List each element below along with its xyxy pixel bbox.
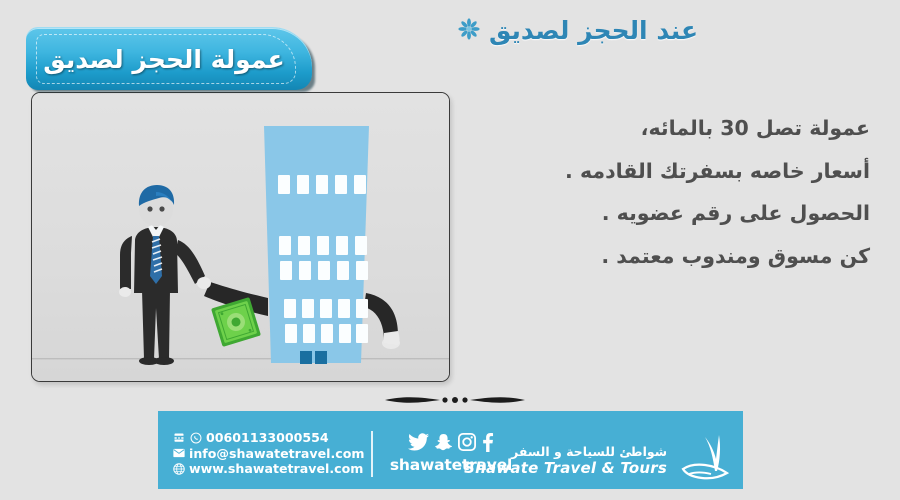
contact-email-row[interactable]: info@shawatetravel.com <box>172 446 364 462</box>
telephone-icon <box>172 431 185 444</box>
benefits-list: عمولة تصل 30 بالمائه، أسعار خاصه بسفرتك … <box>450 118 870 288</box>
businessman-figure <box>119 185 211 365</box>
phone-number: 00601133000554 <box>206 430 329 446</box>
page-title: عند الحجز لصديق <box>458 16 878 45</box>
list-item: أسعار خاصه بسفرتك القادمه . <box>450 161 870 182</box>
whatsapp-icon <box>189 431 202 444</box>
divider-ornament <box>385 392 525 408</box>
contact-phone-row[interactable]: 00601133000554 <box>172 430 364 446</box>
illustration-graphic <box>32 93 449 381</box>
logo-text-block: شواطئ للسياحة و السفر Shawate Travel & T… <box>464 445 667 477</box>
list-item: كن مسوق ومندوب معتمد . <box>450 246 870 267</box>
ribbon-title: عمولة الحجز لصديق <box>26 28 312 90</box>
list-item: عمولة تصل 30 بالمائه، <box>450 118 870 139</box>
logo-arabic-name: شواطئ للسياحة و السفر <box>464 445 667 460</box>
illustration-card <box>31 92 450 382</box>
contact-block: 00601133000554 info@shawatetravel.com ww… <box>172 430 364 477</box>
footer-divider <box>371 431 373 477</box>
email-address: info@shawatetravel.com <box>189 446 364 462</box>
snapchat-icon[interactable] <box>435 433 452 456</box>
website-url: www.shawatetravel.com <box>189 461 363 477</box>
flower-asterisk-icon <box>458 18 480 44</box>
contact-website-row[interactable]: www.shawatetravel.com <box>172 461 364 477</box>
ribbon-body: عمولة الحجز لصديق <box>26 27 312 90</box>
company-logo: شواطئ للسياحة و السفر Shawate Travel & T… <box>464 433 731 489</box>
dhow-boat-icon <box>675 433 731 489</box>
twitter-icon[interactable] <box>408 433 429 455</box>
list-item: الحصول على رقم عضويه . <box>450 203 870 224</box>
poster-canvas: عمولة الحجز لصديق عند الحجز لصديق <box>0 0 900 500</box>
envelope-icon <box>172 447 185 460</box>
ribbon-banner: عمولة الحجز لصديق <box>24 27 319 95</box>
page-title-text: عند الحجز لصديق <box>489 16 698 45</box>
logo-english-name: Shawate Travel & Tours <box>464 460 667 478</box>
footer-bar: 00601133000554 info@shawatetravel.com ww… <box>158 411 743 489</box>
globe-icon <box>172 462 185 475</box>
